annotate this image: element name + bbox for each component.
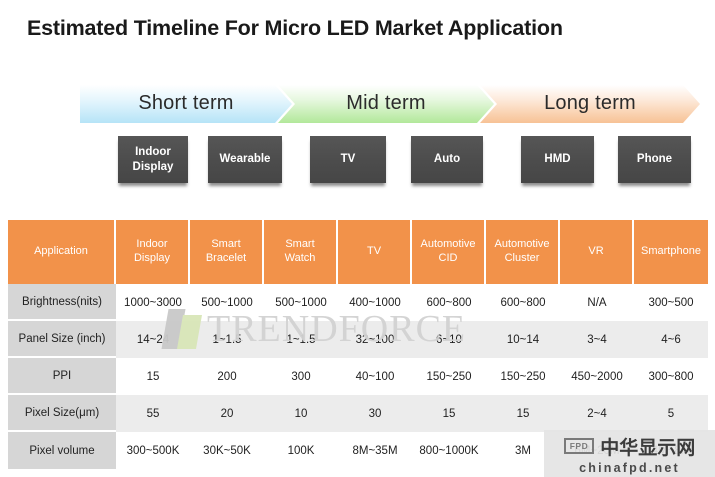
cell-value: N/A [560,284,634,321]
cell-value: 10~14 [486,321,560,358]
header-cell-smart-watch: SmartWatch [264,220,338,284]
header-cell-application: Application [8,220,116,284]
header-line1: Indoor [136,238,167,250]
header-cell-automotive-cluster: AutomotiveCluster [486,220,560,284]
cell-value: 40~100 [338,358,412,395]
slide-canvas: Estimated Timeline For Micro LED Market … [0,0,715,477]
cell-value: 4M~8M [634,432,708,469]
cell-value: 600~800 [486,284,560,321]
cell-value: 10 [264,395,338,432]
badge-wearable[interactable]: Wearable [208,136,282,183]
cell-value: 15 [412,395,486,432]
specs-table: Application IndoorDisplay SmartBracelet … [8,220,708,469]
row-label-brightness: Brightness(nits) [8,284,116,321]
cell-value: 30 [338,395,412,432]
cell-value: 15 [486,395,560,432]
table-row: PPI 15 200 300 40~100 150~250 150~250 45… [8,358,708,395]
badge-phone[interactable]: Phone [618,136,691,183]
header-line2: Watch [285,252,316,264]
badge-indoor-display-line1: Indoor [135,146,171,158]
badge-tv[interactable]: TV [310,136,386,183]
timeline-segment-mid-term[interactable]: Mid term [278,85,494,123]
header-cell-smartphone: Smartphone [634,220,708,284]
cell-value: 14~24 [116,321,190,358]
cell-value: 20 [190,395,264,432]
table-row: Brightness(nits) 1000~3000 500~1000 500~… [8,284,708,321]
header-line2: Cluster [505,252,540,264]
cell-value: 400~1000 [338,284,412,321]
badge-phone-label: Phone [637,152,672,166]
cell-value: 1~1.5 [264,321,338,358]
table-header-row: Application IndoorDisplay SmartBracelet … [8,220,708,284]
header-cell-automotive-cid: AutomotiveCID [412,220,486,284]
cell-value: 150~250 [486,358,560,395]
cell-value: 55 [116,395,190,432]
cell-value: 300 [264,358,338,395]
header-cell-tv: TV [338,220,412,284]
cell-value: 300~800 [634,358,708,395]
header-cell-smart-bracelet: SmartBracelet [190,220,264,284]
header-line1: Application [34,245,88,257]
cell-value: 4~6 [634,321,708,358]
table-row: Panel Size (inch) 14~24 1~1.5 1~1.5 32~1… [8,321,708,358]
cell-value: 600~800 [412,284,486,321]
header-line1: Smart [211,238,240,250]
badge-auto[interactable]: Auto [411,136,483,183]
badge-hmd[interactable]: HMD [521,136,594,183]
cell-value: 500~1000 [264,284,338,321]
header-line1: TV [367,245,381,257]
row-label-pixel-size: Pixel Size(μm) [8,395,116,432]
row-label-ppi: PPI [8,358,116,395]
timeline-segment-long-term[interactable]: Long term [480,85,700,123]
timeline-segment-mid-term-label: Mid term [346,92,425,115]
cell-value: 500~1000 [190,284,264,321]
cell-value: 200 [190,358,264,395]
cell-value: 800~1000K [412,432,486,469]
timeline-segment-long-term-label: Long term [544,92,636,115]
cell-value: 3M [486,432,560,469]
badge-tv-label: TV [341,152,356,166]
header-line2: Display [134,252,170,264]
cell-value: 100K [264,432,338,469]
cell-value: 3~4 [560,321,634,358]
cell-value: 450~2000 [560,358,634,395]
header-line2: CID [439,252,458,264]
application-badge-row: IndoorDisplay Wearable TV Auto HMD Phone [0,136,715,192]
timeline-segment-short-term-label: Short term [138,92,233,115]
table-row: Pixel Size(μm) 55 20 10 30 15 15 2~4 5 [8,395,708,432]
header-line1: Automotive [420,238,475,250]
cell-value: 300~500K [116,432,190,469]
cell-value: 32~100 [338,321,412,358]
header-line1: Automotive [494,238,549,250]
cell-value: 300~500 [634,284,708,321]
cell-value: 1000~3000 [116,284,190,321]
badge-indoor-display[interactable]: IndoorDisplay [118,136,188,183]
badge-auto-label: Auto [434,152,460,166]
cell-value: 8M~35M [338,432,412,469]
header-cell-vr: VR [560,220,634,284]
cell-value: 6M~20M [560,432,634,469]
header-cell-indoor-display: IndoorDisplay [116,220,190,284]
cell-value: 1~1.5 [190,321,264,358]
cell-value: 2~4 [560,395,634,432]
timeline-arrow-band: Short term Mid term Long term [80,85,700,123]
header-line1: Smartphone [641,245,701,257]
cell-value: 6~10 [412,321,486,358]
row-label-panel-size: Panel Size (inch) [8,321,116,358]
cell-value: 150~250 [412,358,486,395]
row-label-pixel-volume: Pixel volume [8,432,116,469]
badge-wearable-label: Wearable [220,152,271,166]
header-line2: Bracelet [206,252,246,264]
header-line1: VR [588,245,603,257]
page-title: Estimated Timeline For Micro LED Market … [27,16,563,41]
badge-indoor-display-line2: Display [133,161,174,173]
timeline-segment-short-term[interactable]: Short term [80,85,292,123]
cell-value: 5 [634,395,708,432]
badge-hmd-label: HMD [544,152,570,166]
cell-value: 15 [116,358,190,395]
header-line1: Smart [285,238,314,250]
cell-value: 30K~50K [190,432,264,469]
table-row: Pixel volume 300~500K 30K~50K 100K 8M~35… [8,432,708,469]
